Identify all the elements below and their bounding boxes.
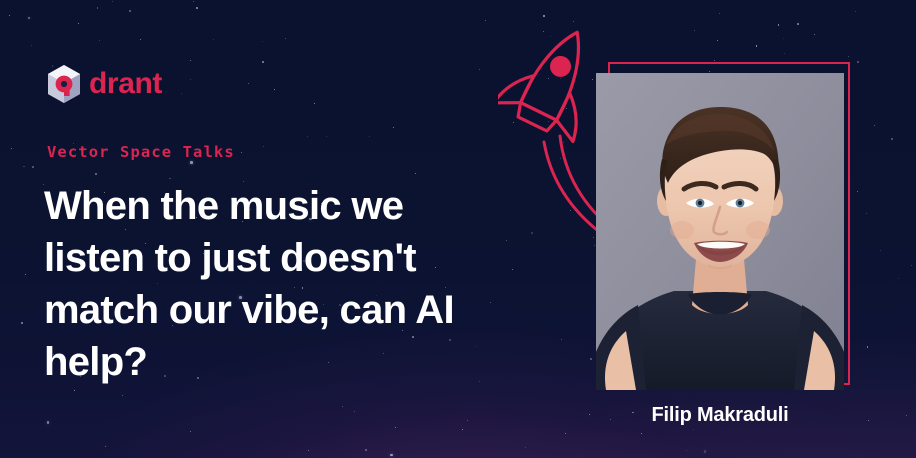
star-dot <box>78 23 79 24</box>
qdrant-hexagon-logo-icon <box>46 64 82 104</box>
star-dot <box>866 213 867 214</box>
star-dot <box>99 40 100 41</box>
star-dot <box>308 450 309 451</box>
headline-line: listen to just doesn't <box>44 232 504 284</box>
star-dot <box>641 433 642 434</box>
speaker-name: Filip Makraduli <box>596 404 844 427</box>
star-dot <box>898 278 899 279</box>
star-dot <box>395 427 397 429</box>
star-dot <box>262 41 263 42</box>
headline-line: help? <box>44 336 504 388</box>
star-dot <box>467 420 468 421</box>
star-dot <box>848 56 849 57</box>
star-dot <box>342 406 343 407</box>
star-dot <box>369 136 370 137</box>
star-dot <box>756 45 758 47</box>
star-dot <box>213 39 215 41</box>
star-dot <box>393 127 395 129</box>
star-dot <box>814 34 815 35</box>
star-dot <box>906 415 907 416</box>
star-dot <box>23 166 25 168</box>
star-dot <box>390 454 393 457</box>
star-dot <box>193 1 194 2</box>
star-dot <box>129 10 131 12</box>
star-dot <box>506 240 507 241</box>
star-dot <box>47 421 50 424</box>
star-dot <box>122 395 123 396</box>
star-dot <box>462 429 463 430</box>
headline-line: When the music we <box>44 180 504 232</box>
star-dot <box>855 11 856 12</box>
star-dot <box>693 429 694 430</box>
star-dot <box>415 173 416 174</box>
star-dot <box>565 433 566 434</box>
promo-banner: drant Vector Space Talks When the music … <box>0 0 916 458</box>
star-dot <box>21 322 23 324</box>
star-dot <box>326 136 327 137</box>
star-dot <box>112 1 113 2</box>
star-dot <box>868 420 869 421</box>
star-dot <box>248 83 249 84</box>
star-dot <box>32 166 34 168</box>
star-dot <box>891 138 893 140</box>
star-dot <box>911 265 912 266</box>
star-dot <box>190 161 193 164</box>
star-dot <box>196 7 198 9</box>
qdrant-logo[interactable]: drant <box>46 64 162 104</box>
star-dot <box>857 191 858 192</box>
star-dot <box>11 148 12 149</box>
star-dot <box>314 103 315 104</box>
headline-title: When the music we listen to just doesn't… <box>44 180 504 388</box>
star-dot <box>543 15 545 17</box>
star-dot <box>25 274 26 275</box>
star-dot <box>190 60 191 61</box>
star-dot <box>97 7 99 9</box>
star-dot <box>140 39 141 40</box>
headline-line: match our vibe, can AI <box>44 284 504 336</box>
star-dot <box>263 146 264 147</box>
star-dot <box>9 15 10 16</box>
star-dot <box>190 79 192 81</box>
star-dot <box>589 414 590 415</box>
star-dot <box>561 339 562 340</box>
star-dot <box>485 20 486 21</box>
star-dot <box>241 152 243 154</box>
star-dot <box>525 447 526 448</box>
star-dot <box>274 89 275 90</box>
star-dot <box>867 346 869 348</box>
series-label: Vector Space Talks <box>47 143 235 161</box>
star-dot <box>704 450 707 453</box>
star-dot <box>783 38 784 39</box>
star-dot <box>74 390 75 391</box>
star-dot <box>31 45 32 46</box>
star-dot <box>590 358 592 360</box>
star-dot <box>694 30 695 31</box>
star-dot <box>307 136 308 137</box>
star-dot <box>105 446 106 447</box>
star-dot <box>784 53 785 54</box>
star-dot <box>354 411 355 412</box>
star-dot <box>778 24 780 26</box>
star-dot <box>874 125 875 126</box>
star-dot <box>797 23 799 25</box>
star-dot <box>719 13 720 14</box>
star-dot <box>181 93 182 94</box>
star-dot <box>880 250 881 251</box>
headshot-photo <box>596 73 844 390</box>
star-dot <box>262 61 264 63</box>
star-dot <box>686 450 687 451</box>
qdrant-logo-wordmark: drant <box>89 69 162 99</box>
star-dot <box>285 38 286 39</box>
star-dot <box>479 69 480 70</box>
star-dot <box>717 40 718 41</box>
star-dot <box>857 61 859 63</box>
star-dot <box>512 269 513 270</box>
star-dot <box>95 173 97 175</box>
star-dot <box>365 449 367 451</box>
star-dot <box>190 431 191 432</box>
star-dot <box>28 17 31 20</box>
